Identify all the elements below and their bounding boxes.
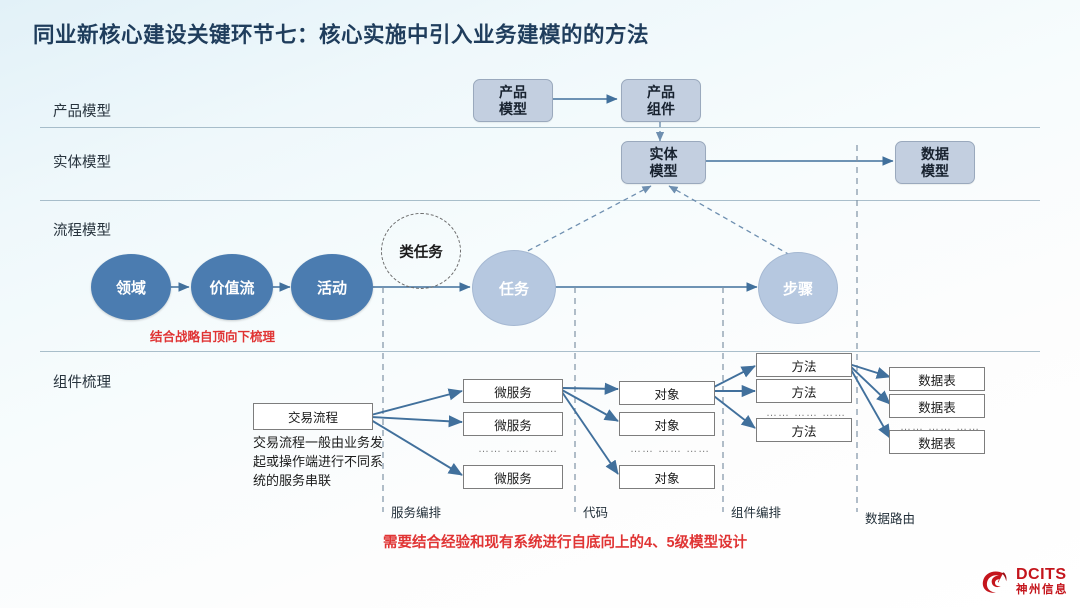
annotation-bottom-up: 需要结合经验和现有系统进行自底向上的4、5级模型设计 [383,531,747,552]
band-label-product-model: 产品模型 [53,100,111,121]
dcits-swoosh-icon [979,566,1011,598]
box-data-model-line1: 数据 [921,146,949,163]
box-microservice-3[interactable]: 微服务 [463,465,563,489]
box-data-table-1[interactable]: 数据表 [889,367,985,391]
circle-step[interactable]: 步骤 [758,252,838,324]
circle-value-stream[interactable]: 价值流 [191,254,273,320]
box-product-component-line2: 组件 [647,101,675,118]
box-microservice-1[interactable]: 微服务 [463,379,563,403]
circle-task-class[interactable]: 类任务 [381,213,461,289]
box-method-1[interactable]: 方法 [756,353,852,377]
box-product-model-line2: 模型 [499,101,527,118]
box-product-component[interactable]: 产品 组件 [621,79,701,122]
circle-activity[interactable]: 活动 [291,254,373,320]
band-divider-1 [40,127,1040,128]
box-product-model[interactable]: 产品 模型 [473,79,553,122]
box-object-3[interactable]: 对象 [619,465,715,489]
band-divider-3 [40,351,1040,352]
circle-task[interactable]: 任务 [472,250,556,326]
logo-text-cn: 神州信息 [1016,585,1068,597]
box-method-2[interactable]: 方法 [756,379,852,403]
box-data-table-3[interactable]: 数据表 [889,430,985,454]
band-label-entity-model: 实体模型 [53,151,111,172]
box-data-table-2[interactable]: 数据表 [889,394,985,418]
column-caption-data-routing: 数据路由 [865,508,915,527]
ellipsis-object: …… …… …… [630,443,710,455]
page-title: 同业新核心建设关键环节七：核心实施中引入业务建模的的方法 [33,18,649,49]
box-data-model[interactable]: 数据 模型 [895,141,975,184]
column-caption-service-orchestration: 服务编排 [391,502,441,521]
transaction-flow-description: 交易流程一般由业务发起或操作端进行不同系统的服务串联 [253,433,383,490]
band-label-process-model: 流程模型 [53,219,111,240]
box-entity-model[interactable]: 实体 模型 [621,141,706,184]
column-caption-code: 代码 [583,502,608,521]
box-product-model-line1: 产品 [499,84,527,101]
box-object-1[interactable]: 对象 [619,381,715,405]
ellipsis-microservice: …… …… …… [478,443,558,455]
box-entity-model-line1: 实体 [650,146,678,163]
box-microservice-2[interactable]: 微服务 [463,412,563,436]
box-object-2[interactable]: 对象 [619,412,715,436]
column-caption-component-orchestration: 组件编排 [731,502,781,521]
band-label-component-sorting: 组件梳理 [53,371,111,392]
circle-domain[interactable]: 领域 [91,254,171,320]
box-method-3[interactable]: 方法 [756,418,852,442]
logo-text-en: DCITS [1016,567,1068,583]
box-entity-model-line2: 模型 [650,163,678,180]
box-data-model-line2: 模型 [921,163,949,180]
company-logo: DCITS 神州信息 [979,566,1068,598]
slide-canvas: 同业新核心建设关键环节七：核心实施中引入业务建模的的方法 产品模型 实体模型 流… [0,0,1080,608]
box-product-component-line1: 产品 [647,84,675,101]
box-transaction-flow[interactable]: 交易流程 [253,403,373,430]
annotation-top-down: 结合战略自顶向下梳理 [150,326,275,345]
band-divider-2 [40,200,1040,201]
